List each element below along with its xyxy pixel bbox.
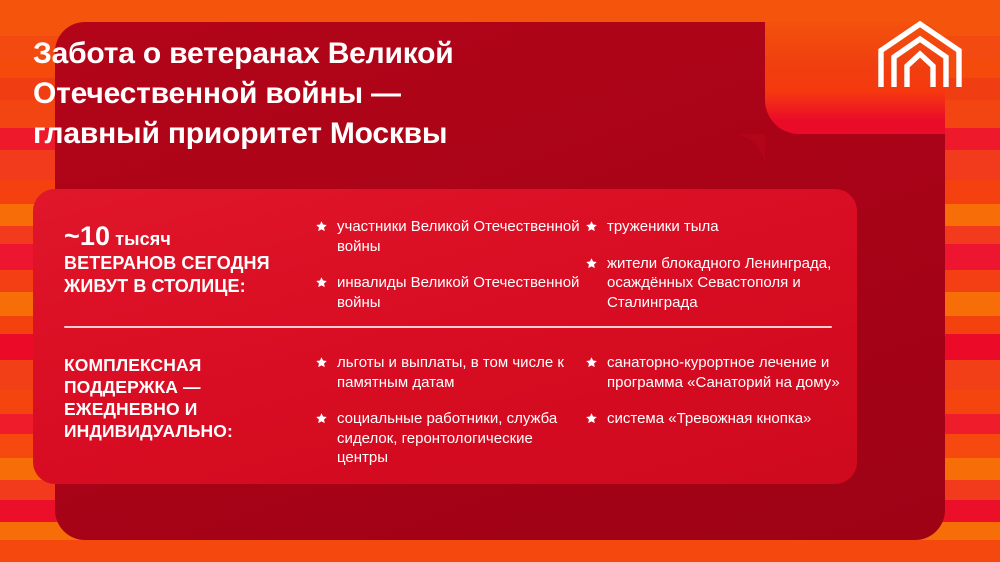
title-line-3: главный приоритет Москвы [33,114,593,154]
page-title: Забота о ветеранах Великой Отечественной… [33,34,593,154]
veterans-count-unit: тысяч [115,229,171,249]
list-item: жители блокадного Ленинграда, осаждённых… [585,254,857,313]
star-bullet-icon [585,220,598,233]
support-heading-line-3: ЕЖЕДНЕВНО [64,399,180,419]
list-item: санаторно-курортное лечение и программа … [585,353,857,392]
list-item-label: социальные работники, служба сиделок, ге… [337,410,557,466]
moscow-m-logo-icon [876,19,964,89]
star-bullet-icon [315,220,328,233]
star-bullet-icon [585,412,598,425]
list-item: социальные работники, служба сиделок, ге… [315,409,585,468]
list-item-label: санаторно-курортное лечение и программа … [607,354,840,391]
title-line-1: Забота о ветеранах Великой [33,34,593,74]
veterans-category-list-a: участники Великой Отечественной войны ин… [315,217,585,312]
list-item-label: жители блокадного Ленинграда, осаждённых… [607,255,831,311]
list-item: труженики тыла [585,217,857,237]
section-divider [64,326,832,328]
veterans-count-line-3: ЖИВУТ В СТОЛИЦЕ: [64,275,315,297]
list-item: участники Великой Отечественной войны [315,217,585,256]
support-measures-list-b: санаторно-курортное лечение и программа … [585,353,857,429]
support-heading-line-2: ПОДДЕРЖКА — [64,377,201,397]
veterans-category-column-a: участники Великой Отечественной войны ин… [315,189,585,312]
veterans-category-list-b: труженики тыла жители блокадного Ленингр… [585,217,857,312]
background-stripe [0,540,1000,562]
support-heading-line-1: КОМПЛЕКСНАЯ [64,355,201,375]
support-heading: КОМПЛЕКСНАЯ ПОДДЕРЖКА — ЕЖЕДНЕВНО И ИНДИ… [33,339,315,468]
veterans-category-column-b: труженики тыла жители блокадного Ленингр… [585,189,857,312]
list-item: система «Тревожная кнопка» [585,409,857,429]
star-bullet-icon [585,356,598,369]
support-measures-column-b: санаторно-курортное лечение и программа … [585,339,857,468]
star-bullet-icon [585,257,598,270]
list-item-label: льготы и выплаты, в том числе к памятным… [337,354,564,391]
veterans-count-line-2: ВЕТЕРАНОВ СЕГОДНЯ [64,252,315,274]
veterans-count-heading: ~10 тысяч ВЕТЕРАНОВ СЕГОДНЯ ЖИВУТ В СТОЛ… [33,189,315,312]
support-measures-list-a: льготы и выплаты, в том числе к памятным… [315,353,585,468]
list-item-label: участники Великой Отечественной войны [337,218,580,255]
support-measures-column-a: льготы и выплаты, в том числе к памятным… [315,339,585,468]
section-support: КОМПЛЕКСНАЯ ПОДДЕРЖКА — ЕЖЕДНЕВНО И ИНДИ… [33,339,857,468]
star-bullet-icon [315,276,328,289]
list-item: инвалиды Великой Отечественной войны [315,273,585,312]
list-item-label: труженики тыла [607,218,719,235]
list-item: льготы и выплаты, в том числе к памятным… [315,353,585,392]
title-line-2: Отечественной войны — [33,74,593,114]
section-veterans-count: ~10 тысяч ВЕТЕРАНОВ СЕГОДНЯ ЖИВУТ В СТОЛ… [33,189,857,312]
star-bullet-icon [315,412,328,425]
list-item-label: система «Тревожная кнопка» [607,410,811,427]
content-panel: ~10 тысяч ВЕТЕРАНОВ СЕГОДНЯ ЖИВУТ В СТОЛ… [33,189,857,484]
star-bullet-icon [315,356,328,369]
infographic-canvas: Забота о ветеранах Великой Отечественной… [0,0,1000,562]
veterans-count-value: ~10 [64,221,110,251]
list-item-label: инвалиды Великой Отечественной войны [337,274,579,311]
